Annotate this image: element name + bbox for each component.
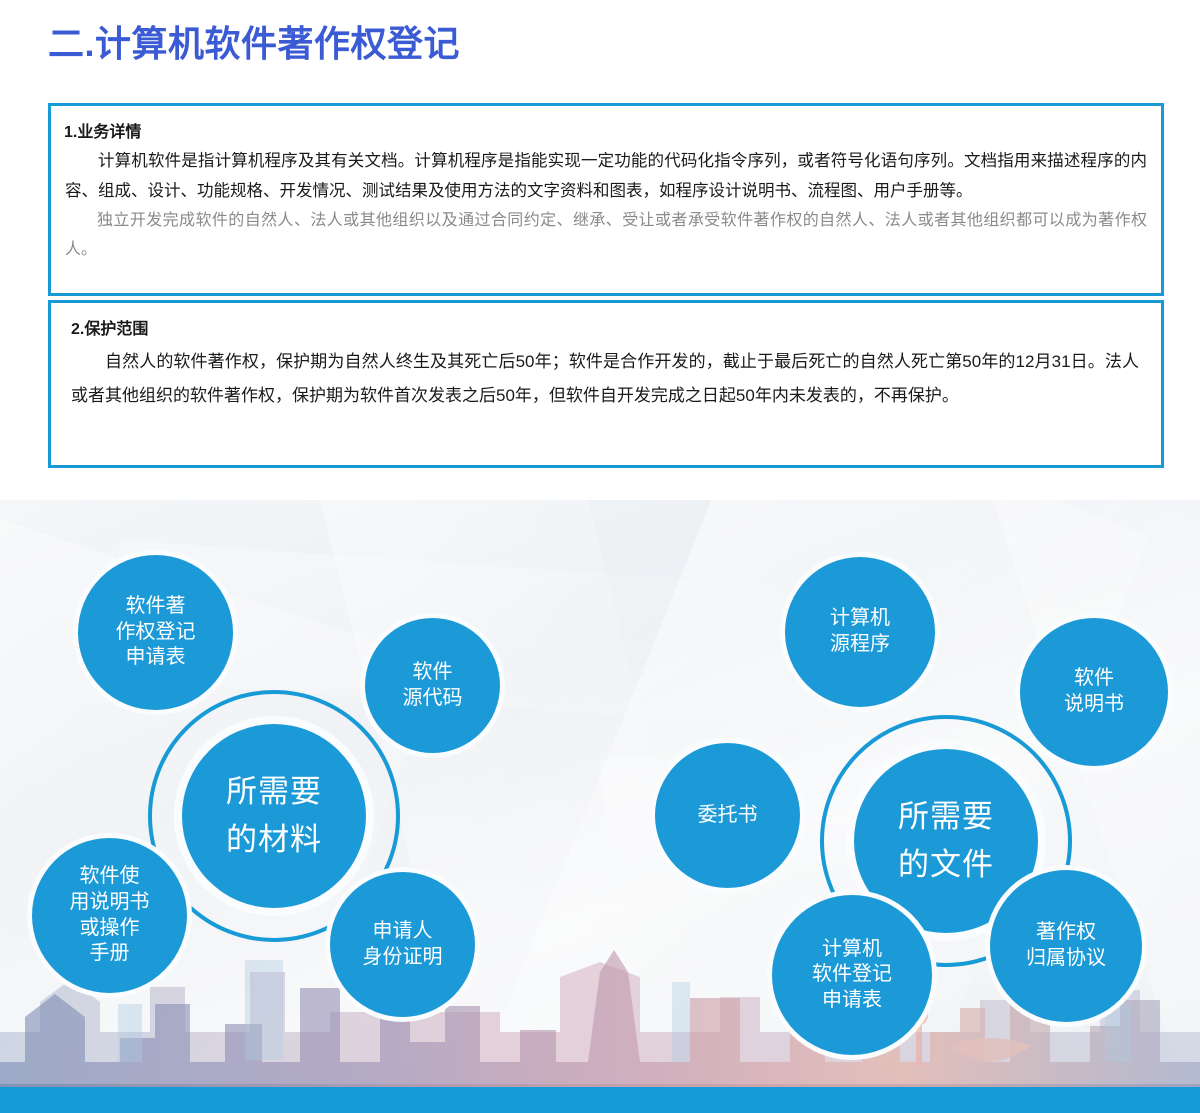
bubble-computer-source-program[interactable]: 计算机 源程序 (785, 557, 935, 707)
bubble-line: 用说明书 (70, 891, 150, 913)
section-2-paragraph-1: 自然人的软件著作权，保护期为自然人终生及其死亡后50年；软件是合作开发的，截止于… (71, 345, 1139, 413)
bubble-line: 委托书 (698, 804, 758, 826)
bubble-line: 源程序 (830, 633, 890, 655)
bubble-power-of-attorney[interactable]: 委托书 (655, 743, 800, 888)
bubble-software-spec[interactable]: 软件 说明书 (1020, 618, 1168, 766)
bubble-line: 手册 (90, 942, 130, 964)
materials-center-line-2: 的材料 (226, 822, 322, 857)
bottom-accent-bar (0, 1087, 1200, 1113)
bubble-line: 软件 (1074, 667, 1114, 689)
bubble-line: 身份证明 (363, 946, 443, 968)
bubble-line: 计算机 (830, 607, 890, 629)
bubble-line: 源代码 (403, 687, 463, 709)
page-root: 二.计算机软件著作权登记 1.业务详情 计算机软件是指计算机程序及其有关文档。计… (0, 0, 1200, 1113)
bubble-line: 软件著 (126, 595, 186, 617)
bubble-line: 计算机 (822, 938, 882, 960)
section-2-heading: 2.保护范围 (71, 317, 1161, 343)
bubble-user-manual[interactable]: 软件使 用说明书 或操作 手册 (32, 838, 187, 993)
bubble-line: 归属协议 (1026, 947, 1106, 969)
bubble-line: 作权登记 (116, 621, 196, 643)
bubble-copyright-agreement[interactable]: 著作权 归属协议 (990, 870, 1142, 1022)
bubble-line: 软件使 (80, 865, 140, 887)
bubble-line: 说明书 (1064, 693, 1124, 715)
section-1-paragraph-1: 计算机软件是指计算机程序及其有关文档。计算机程序是指能实现一定功能的代码化指令序… (65, 146, 1147, 206)
bubble-source-code[interactable]: 软件 源代码 (365, 618, 500, 753)
bubble-line: 著作权 (1036, 921, 1096, 943)
bubble-line: 或操作 (80, 917, 140, 939)
bubble-applicant-id[interactable]: 申请人 身份证明 (330, 872, 475, 1017)
documents-center-line-1: 所需要 (898, 799, 994, 834)
bubble-line: 软件 (413, 661, 453, 683)
bubble-line: 申请人 (373, 920, 433, 942)
section-1-paragraph-2: 独立开发完成软件的自然人、法人或其他组织以及通过合同约定、继承、受让或者承受软件… (65, 206, 1147, 264)
materials-center-bubble[interactable]: 所需要 的材料 (182, 724, 366, 908)
bubble-line: 软件登记 (812, 963, 892, 985)
illustration-band: 所需要 的材料 软件著 作权登记 申请表 软件 源代码 软件使 (0, 500, 1200, 1113)
bubble-registration-form[interactable]: 计算机 软件登记 申请表 (772, 895, 932, 1055)
bubble-application-form[interactable]: 软件著 作权登记 申请表 (78, 555, 233, 710)
bubble-line: 申请表 (822, 989, 882, 1011)
bubble-line: 申请表 (126, 646, 186, 668)
protection-scope-box: 2.保护范围 自然人的软件著作权，保护期为自然人终生及其死亡后50年；软件是合作… (48, 300, 1164, 468)
business-detail-box: 1.业务详情 计算机软件是指计算机程序及其有关文档。计算机程序是指能实现一定功能… (48, 103, 1164, 296)
materials-center-line-1: 所需要 (226, 774, 322, 809)
section-1-heading: 1.业务详情 (64, 120, 1161, 146)
page-title: 二.计算机软件著作权登记 (48, 22, 460, 66)
documents-center-line-2: 的文件 (898, 847, 994, 882)
